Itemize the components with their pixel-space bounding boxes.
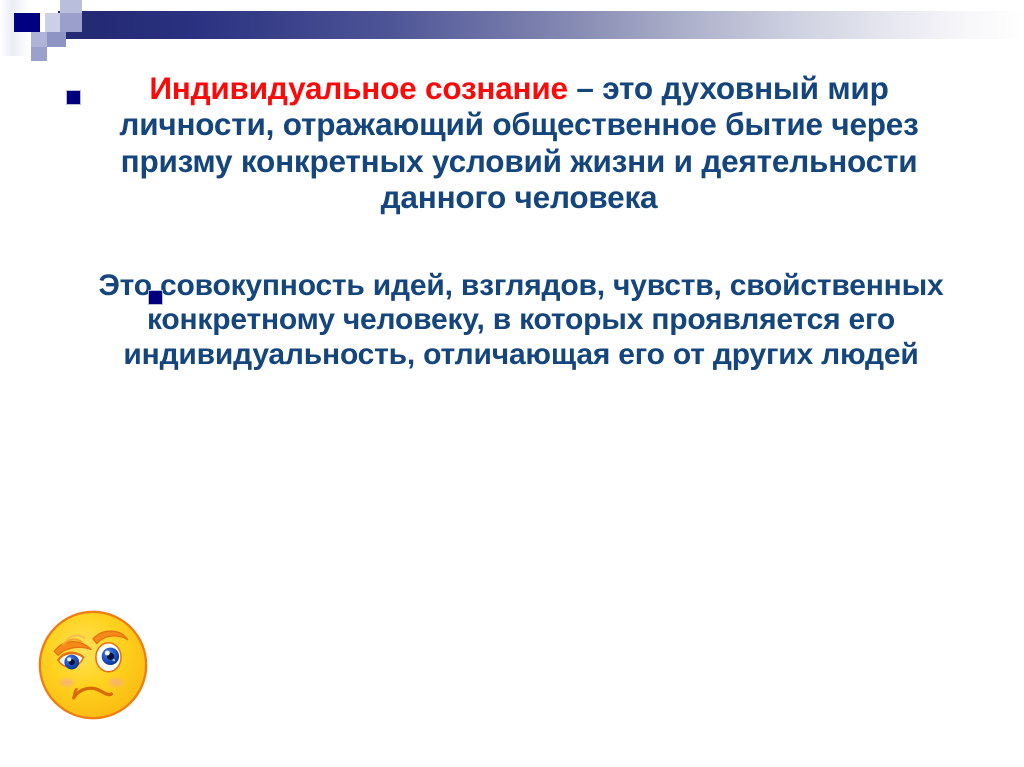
banner-square-bottom (31, 47, 47, 61)
emoji-eye-right-glint-2 (113, 659, 116, 662)
skeptical-face-emoji (35, 606, 151, 724)
emoji-face (40, 612, 146, 718)
banner-square-mid-right (47, 32, 66, 47)
banner-square-light-top (60, 0, 82, 13)
bullet-square-icon-1 (66, 90, 81, 105)
emoji-blush-right (106, 676, 127, 689)
decorative-banner (0, 0, 1024, 56)
bullet-square-icon-2 (148, 290, 163, 305)
banner-square-mid-upper (60, 13, 82, 32)
bullet-point-2: Это совокупность идей, взглядов, чувств,… (0, 269, 1024, 373)
banner-square-mid-left (31, 32, 47, 47)
bullet-1-highlight: Индивидуальное сознание (149, 70, 568, 106)
bullet-point-1: Индивидуальное сознание – это духовный м… (0, 70, 1024, 216)
emoji-eye-left-glint (67, 657, 71, 661)
bullet-1-text: Индивидуальное сознание – это духовный м… (0, 70, 1024, 216)
banner-square-dark-navy (14, 13, 40, 32)
emoji-blush-left (56, 676, 77, 689)
bullet-2-text: Это совокупность идей, взглядов, чувств,… (0, 269, 1024, 373)
banner-gradient-bar (58, 11, 1024, 39)
slide-content: Индивидуальное сознание – это духовный м… (0, 70, 1024, 372)
emoji-eye-right-glint (105, 651, 110, 656)
